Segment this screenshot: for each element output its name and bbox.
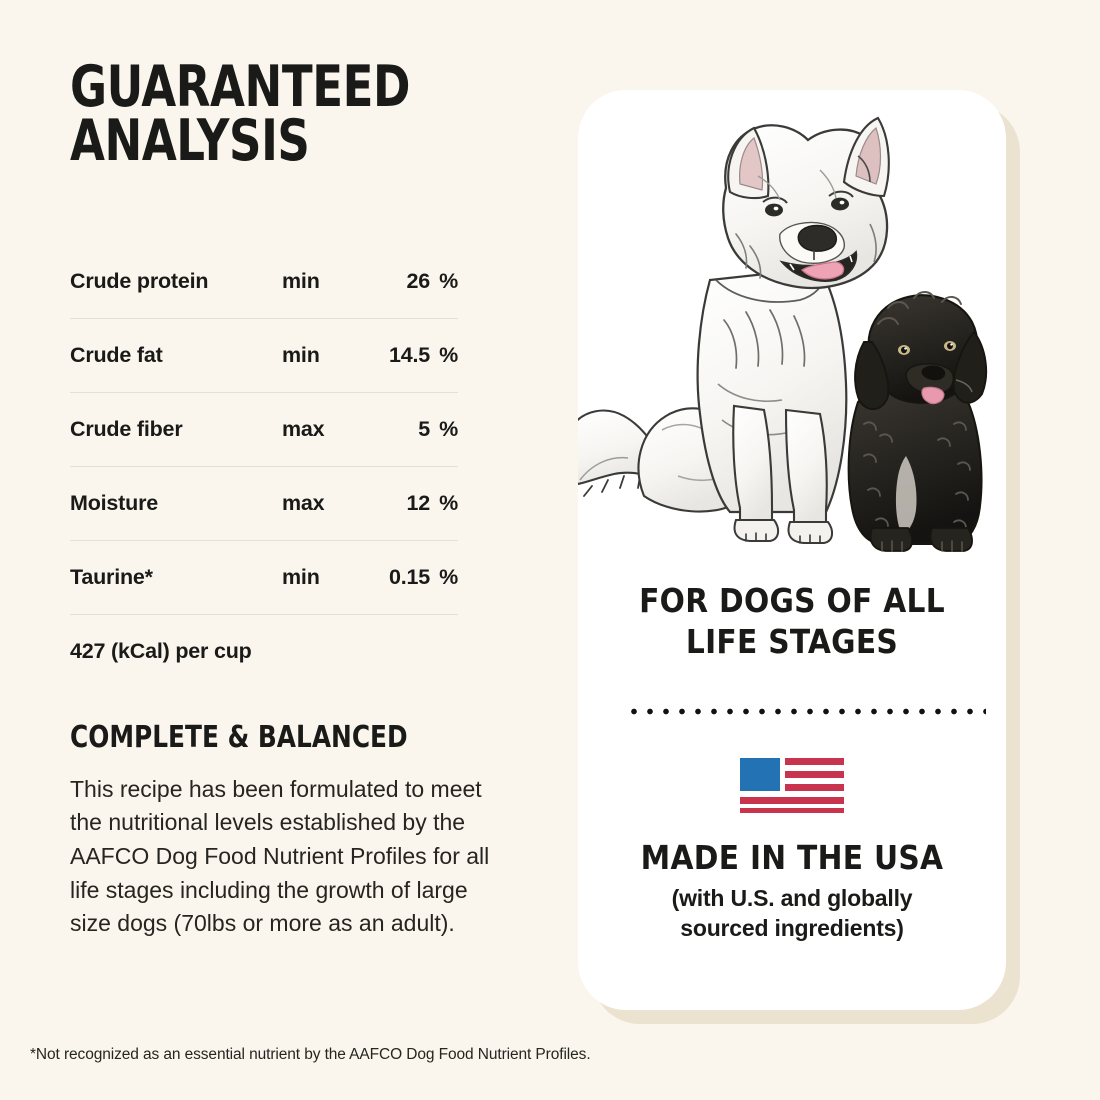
usa-flag-icon xyxy=(740,758,844,813)
complete-balanced-body: This recipe has been formulated to meet … xyxy=(70,773,510,941)
table-row: Crude fiber max 5 % xyxy=(70,392,458,466)
page-title: GUARANTEED ANALYSIS xyxy=(70,60,484,168)
made-in-usa-subtext: (with U.S. and globally sourced ingredie… xyxy=(578,884,1006,944)
nutrient-value: 5 xyxy=(368,392,430,466)
guaranteed-analysis-panel: GUARANTEED ANALYSIS Crude protein min 26… xyxy=(70,60,540,964)
nutrient-limit: max xyxy=(282,466,368,540)
nutrient-value: 14.5 xyxy=(368,318,430,392)
nutrient-name: Crude fat xyxy=(70,318,282,392)
nutrient-value: 12 xyxy=(368,466,430,540)
table-row: Crude fat min 14.5 % xyxy=(70,318,458,392)
nutrient-unit: % xyxy=(430,318,458,392)
nutrient-value: 0.15 xyxy=(368,540,430,614)
nutrient-name: Crude fiber xyxy=(70,392,282,466)
dotted-divider xyxy=(626,708,986,715)
white-shepherd-dog xyxy=(578,118,889,543)
nutrient-name: Moisture xyxy=(70,466,282,540)
life-stages-card: FOR DOGS OF ALL LIFE STAGES MADE IN THE … xyxy=(578,90,1006,1010)
life-stages-headline: FOR DOGS OF ALL LIFE STAGES xyxy=(578,580,1006,663)
nutrient-value: 26 xyxy=(368,244,430,318)
footnote-text: *Not recognized as an essential nutrient… xyxy=(30,1046,591,1064)
two-dogs-illustration xyxy=(578,90,1006,564)
made-in-usa-headline: MADE IN THE USA xyxy=(578,838,1006,877)
table-body: Crude protein min 26 % Crude fat min 14.… xyxy=(70,244,458,614)
table-row: Moisture max 12 % xyxy=(70,466,458,540)
nutrient-unit: % xyxy=(430,540,458,614)
nutrient-limit: max xyxy=(282,392,368,466)
guaranteed-analysis-table: Crude protein min 26 % Crude fat min 14.… xyxy=(70,244,458,615)
calorie-content: 427 (kCal) per cup xyxy=(70,639,540,664)
nutrient-limit: min xyxy=(282,318,368,392)
nutrient-unit: % xyxy=(430,244,458,318)
nutrient-limit: min xyxy=(282,540,368,614)
black-curly-dog xyxy=(849,292,987,551)
complete-balanced-heading: COMPLETE & BALANCED xyxy=(70,720,502,755)
nutrient-unit: % xyxy=(430,392,458,466)
nutrient-limit: min xyxy=(282,244,368,318)
nutrient-name: Crude protein xyxy=(70,244,282,318)
nutrient-name: Taurine* xyxy=(70,540,282,614)
table-row: Taurine* min 0.15 % xyxy=(70,540,458,614)
table-row: Crude protein min 26 % xyxy=(70,244,458,318)
nutrient-unit: % xyxy=(430,466,458,540)
